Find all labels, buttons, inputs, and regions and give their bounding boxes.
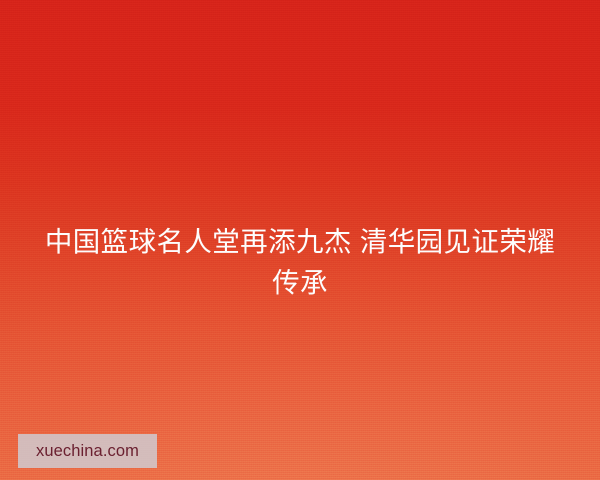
watermark-badge: xuechina.com: [18, 434, 157, 468]
page-title: 中国篮球名人堂再添九杰 清华园见证荣耀传承: [0, 221, 600, 303]
watermark-label: xuechina.com: [36, 443, 139, 460]
article-card: 中国篮球名人堂再添九杰 清华园见证荣耀传承 xuechina.com: [0, 0, 600, 480]
